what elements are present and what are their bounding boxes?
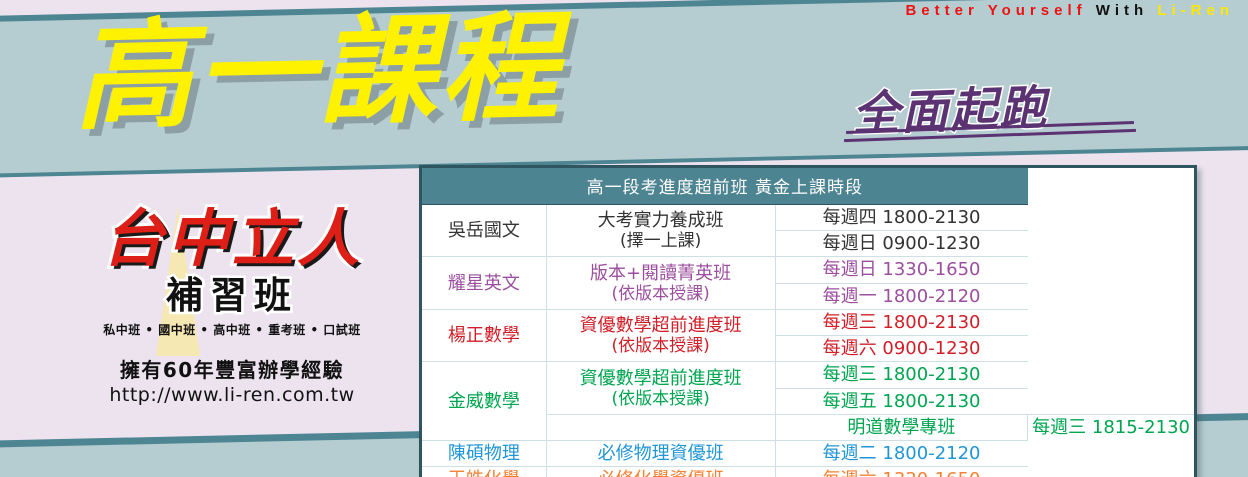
course-promo-banner: Better Yourself With Li-Ren 高一課程 全面起跑 台中… bbox=[0, 0, 1248, 477]
schedule-table-header: 高一段考進度超前班 黃金上課時段 bbox=[422, 168, 1028, 205]
teacher-cell: 金威數學 bbox=[422, 362, 546, 441]
class-time-cell: 每週三 1800-2130 bbox=[775, 362, 1028, 388]
logo-class-types: 私中班 • 國中班 • 高中班 • 重考班 • 口試班 bbox=[52, 321, 412, 338]
class-time-cell: 每週四 1800-2130 bbox=[775, 205, 1028, 231]
course-note: (依版本授課) bbox=[551, 284, 771, 304]
class-time-cell: 每週三 1800-2130 bbox=[775, 309, 1028, 335]
page-title: 高一課程 bbox=[73, 1, 564, 143]
schedule-table: 高一段考進度超前班 黃金上課時段 吳岳國文大考實力養成班(擇一上課)每週四 18… bbox=[422, 168, 1194, 477]
logo-experience: 擁有60年豐富辦學經驗 bbox=[52, 354, 412, 383]
class-time-cell: 每週日 0900-1230 bbox=[775, 231, 1028, 257]
class-time-cell: 每週六 1330-1650 bbox=[775, 467, 1028, 477]
brand-tagline: Better Yourself With Li-Ren bbox=[905, 2, 1234, 19]
course-cell: 資優數學超前進度班(依版本授課) bbox=[546, 309, 775, 361]
tagline-part-red: Better Yourself bbox=[905, 2, 1086, 19]
course-cell: 資優數學超前進度班(依版本授課) bbox=[546, 362, 775, 414]
table-row: 金威數學資優數學超前進度班(依版本授課)每週三 1800-2130 bbox=[422, 362, 1194, 388]
teacher-cell: 陳碩物理 bbox=[422, 441, 546, 467]
logo-name: 台中立人 bbox=[52, 206, 412, 271]
logo-website-url[interactable]: http://www.li-ren.com.tw bbox=[52, 384, 412, 406]
class-time-cell: 每週五 1800-2130 bbox=[775, 388, 1028, 414]
teacher-cell: 王皓化學 bbox=[422, 467, 546, 477]
teacher-cell: 耀星英文 bbox=[422, 257, 546, 309]
table-row: 陳碩物理必修物理資優班每週二 1800-2120 bbox=[422, 441, 1194, 467]
course-cell: 明道數學專班 bbox=[775, 414, 1028, 440]
course-cell: 必修化學資優班 bbox=[546, 467, 775, 477]
table-row: 吳岳國文大考實力養成班(擇一上課)每週四 1800-2130 bbox=[422, 205, 1194, 231]
teacher-cell: 吳岳國文 bbox=[422, 205, 546, 257]
course-note: (依版本授課) bbox=[551, 389, 771, 409]
logo-kind: 補習班 bbox=[52, 265, 412, 319]
class-time-cell: 每週三 1815-2130 bbox=[1028, 414, 1194, 440]
table-row: 耀星英文版本+閱讀菁英班(依版本授課)每週日 1330-1650 bbox=[422, 257, 1194, 283]
course-cell: 版本+閱讀菁英班(依版本授課) bbox=[546, 257, 775, 309]
course-note: (擇一上課) bbox=[551, 231, 771, 251]
logo: 台中立人 補習班 私中班 • 國中班 • 高中班 • 重考班 • 口試班 擁有6… bbox=[52, 206, 412, 406]
class-time-cell: 每週一 1800-2120 bbox=[775, 283, 1028, 309]
course-note: (依版本授課) bbox=[551, 336, 771, 356]
tagline-part-yellow: Li-Ren bbox=[1157, 2, 1234, 19]
class-time-cell: 每週二 1800-2120 bbox=[775, 441, 1028, 467]
course-cell: 大考實力養成班(擇一上課) bbox=[546, 205, 775, 257]
teacher-cell: 楊正數學 bbox=[422, 309, 546, 361]
course-cell: 必修物理資優班 bbox=[546, 441, 775, 467]
teacher-cell bbox=[546, 414, 775, 440]
class-time-cell: 每週日 1330-1650 bbox=[775, 257, 1028, 283]
schedule-table-container: 高一段考進度超前班 黃金上課時段 吳岳國文大考實力養成班(擇一上課)每週四 18… bbox=[419, 165, 1197, 477]
table-row: 楊正數學資優數學超前進度班(依版本授課)每週三 1800-2130 bbox=[422, 309, 1194, 335]
table-row: 王皓化學必修化學資優班每週六 1330-1650 bbox=[422, 467, 1194, 477]
class-time-cell: 每週六 0900-1230 bbox=[775, 336, 1028, 362]
tagline-part-black: With bbox=[1096, 2, 1148, 19]
schedule-table-body: 吳岳國文大考實力養成班(擇一上課)每週四 1800-2130每週日 0900-1… bbox=[422, 205, 1194, 477]
